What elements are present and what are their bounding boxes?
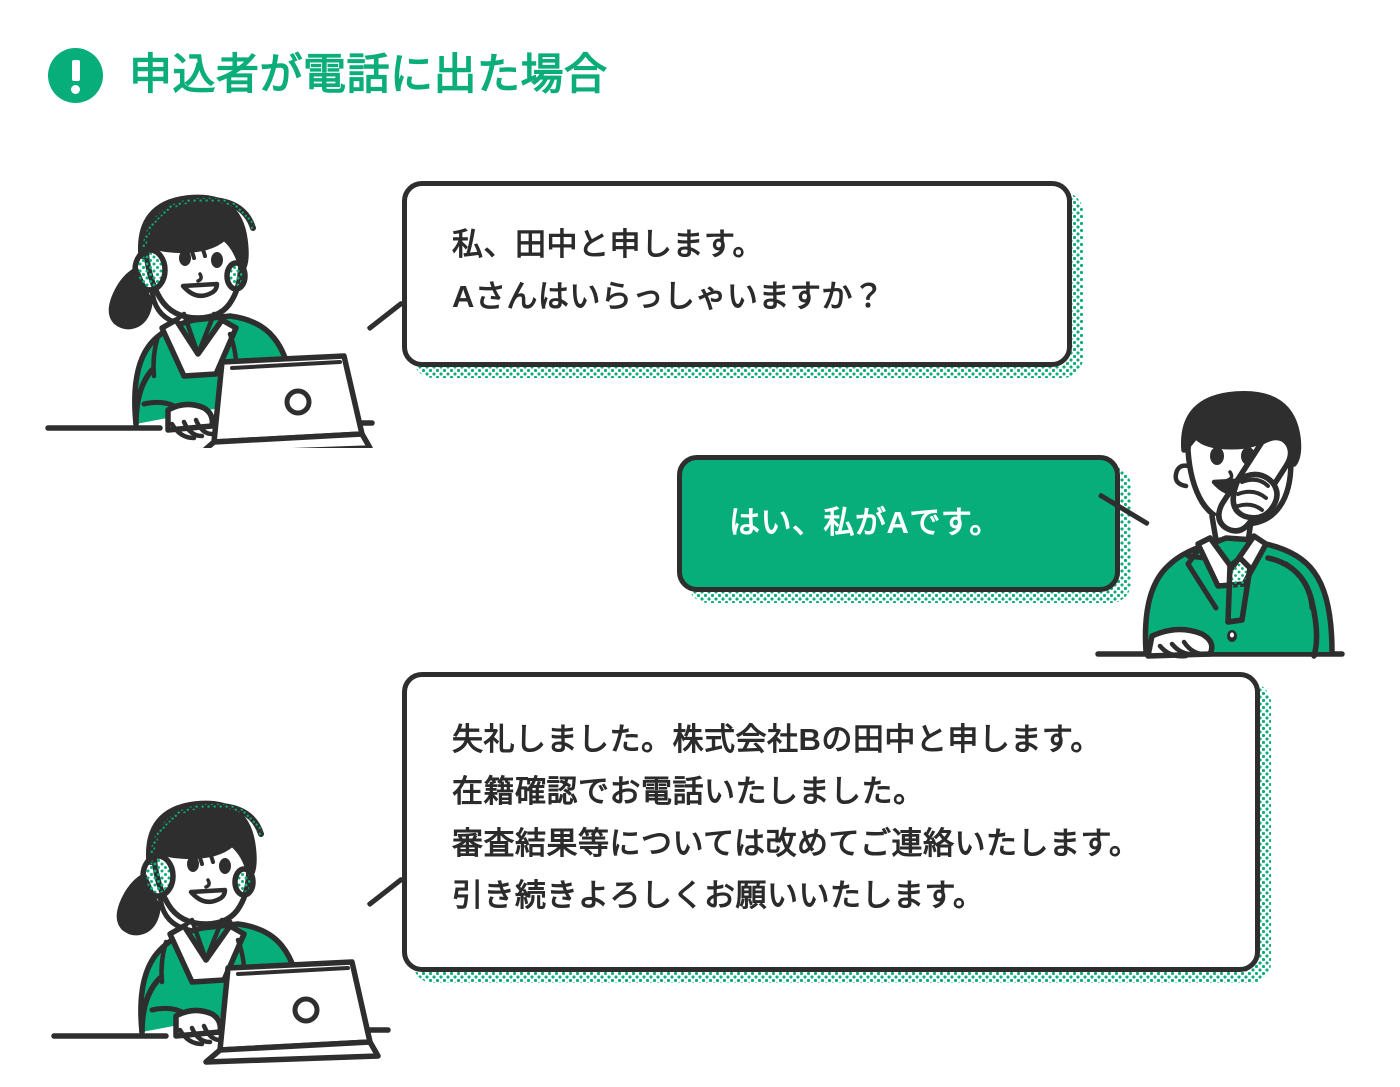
bubble-text-operator-1: 私、田中と申します。 Aさんはいらっしゃいますか？ <box>452 219 884 323</box>
bubble-text-applicant: はい、私がAです。 <box>729 499 1001 547</box>
speech-bubble-operator-2: 失礼しました。株式会社Bの田中と申します。 在籍確認でお電話いたしました。 審査… <box>402 672 1260 972</box>
exclamation-stem <box>72 60 80 81</box>
operator-illustration-2 <box>48 778 398 1068</box>
page-header: 申込者が電話に出た場合 <box>48 38 608 112</box>
exclamation-circle-icon <box>48 48 103 103</box>
applicant-illustration <box>1090 388 1390 678</box>
page-title: 申込者が電話に出た場合 <box>129 54 608 97</box>
infographic-canvas: 申込者が電話に出た場合 <box>0 0 1400 1087</box>
speech-bubble-operator-1: 私、田中と申します。 Aさんはいらっしゃいますか？ <box>402 181 1072 367</box>
bubble-text-operator-2: 失礼しました。株式会社Bの田中と申します。 在籍確認でお電話いたしました。 審査… <box>452 714 1140 922</box>
exclamation-dot <box>71 85 80 94</box>
speech-bubble-applicant: はい、私がAです。 <box>677 455 1120 592</box>
operator-illustration-1 <box>40 178 380 448</box>
